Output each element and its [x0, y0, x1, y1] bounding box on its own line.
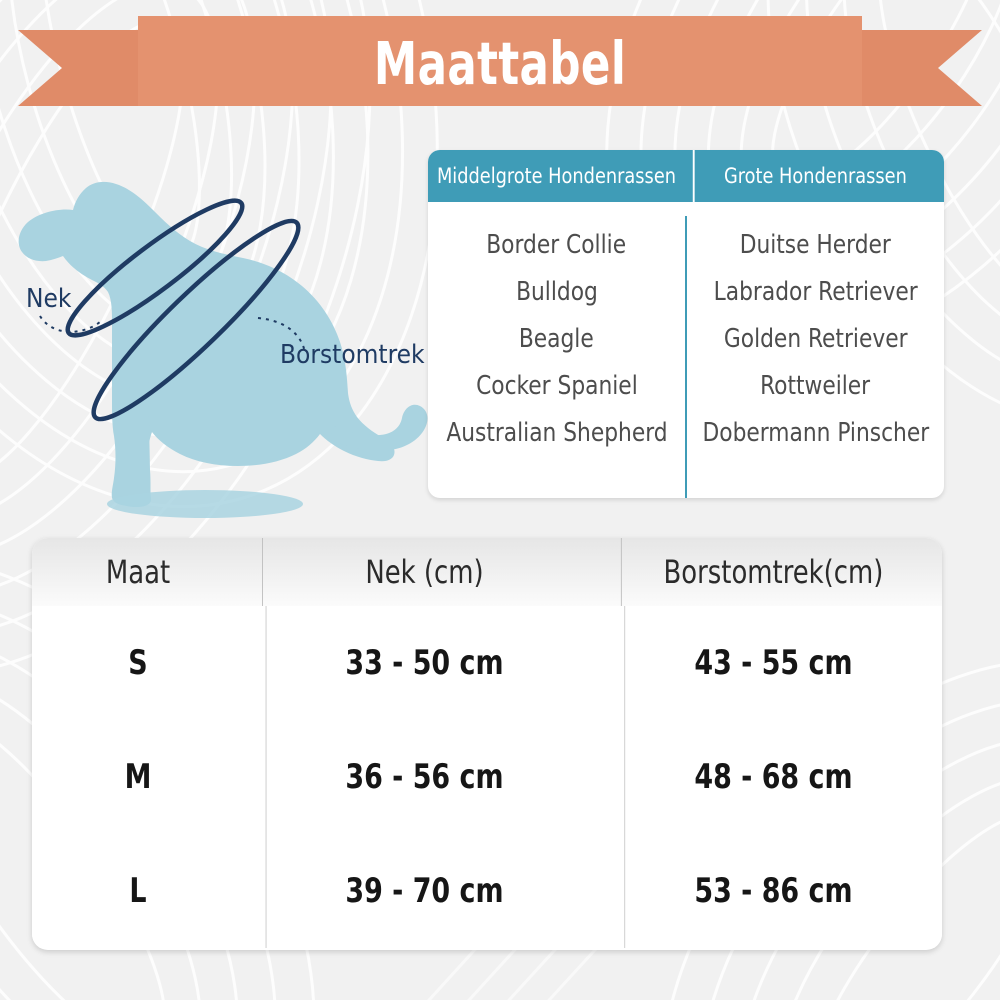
chest-label: Borstomtrek: [280, 340, 425, 370]
size-cell-nek: 33 - 50 cm: [266, 606, 583, 720]
list-item: Australian Shepherd: [446, 410, 667, 457]
size-header-borstomtrek: Borstomtrek(cm): [621, 538, 925, 606]
size-cell-nek: 39 - 70 cm: [266, 834, 583, 948]
list-item: Duitse Herder: [740, 222, 891, 269]
page-title: Maattabel: [90, 26, 910, 106]
table-row: S 33 - 50 cm 43 - 55 cm: [32, 606, 942, 720]
size-header-maat: Maat: [43, 538, 234, 606]
size-table: Maat Nek (cm) Borstomtrek(cm) S 33 - 50 …: [32, 538, 942, 950]
table-row: L 39 - 70 cm 53 - 86 cm: [32, 834, 942, 948]
size-cell-borst: 48 - 68 cm: [624, 720, 921, 834]
size-chart-page: Maattabel Nek Borstomtrek Middelgrote H: [0, 0, 1000, 1000]
breeds-table: Middelgrote Hondenrassen Grote Hondenras…: [428, 150, 944, 498]
breeds-header-large: Grote Hondenrassen: [693, 150, 936, 202]
size-cell-maat: S: [45, 606, 232, 720]
list-item: Labrador Retriever: [713, 269, 917, 316]
size-table-header-row: Maat Nek (cm) Borstomtrek(cm): [32, 538, 942, 606]
list-item: Bulldog: [516, 269, 598, 316]
list-item: Rottweiler: [760, 363, 870, 410]
size-cell-maat: L: [45, 834, 232, 948]
banner: Maattabel: [0, 8, 1000, 118]
size-header-nek: Nek (cm): [262, 538, 586, 606]
list-item: Beagle: [519, 316, 594, 363]
size-cell-nek: 36 - 56 cm: [266, 720, 583, 834]
list-item: Cocker Spaniel: [476, 363, 638, 410]
breeds-header-medium: Middelgrote Hondenrassen: [436, 150, 678, 202]
table-row: M 36 - 56 cm 48 - 68 cm: [32, 720, 942, 834]
breeds-table-body: Border Collie Bulldog Beagle Cocker Span…: [428, 202, 944, 498]
breeds-column-medium: Border Collie Bulldog Beagle Cocker Span…: [428, 216, 685, 498]
breeds-table-header-row: Middelgrote Hondenrassen Grote Hondenras…: [428, 150, 944, 202]
list-item: Dobermann Pinscher: [702, 410, 929, 457]
size-cell-borst: 53 - 86 cm: [624, 834, 921, 948]
neck-label: Nek: [26, 284, 72, 314]
dog-illustration: Nek Borstomtrek: [0, 140, 440, 530]
size-cell-borst: 43 - 55 cm: [624, 606, 921, 720]
list-item: Golden Retriever: [724, 316, 908, 363]
size-cell-maat: M: [45, 720, 232, 834]
list-item: Border Collie: [487, 222, 627, 269]
breeds-column-large: Duitse Herder Labrador Retriever Golden …: [685, 216, 944, 498]
